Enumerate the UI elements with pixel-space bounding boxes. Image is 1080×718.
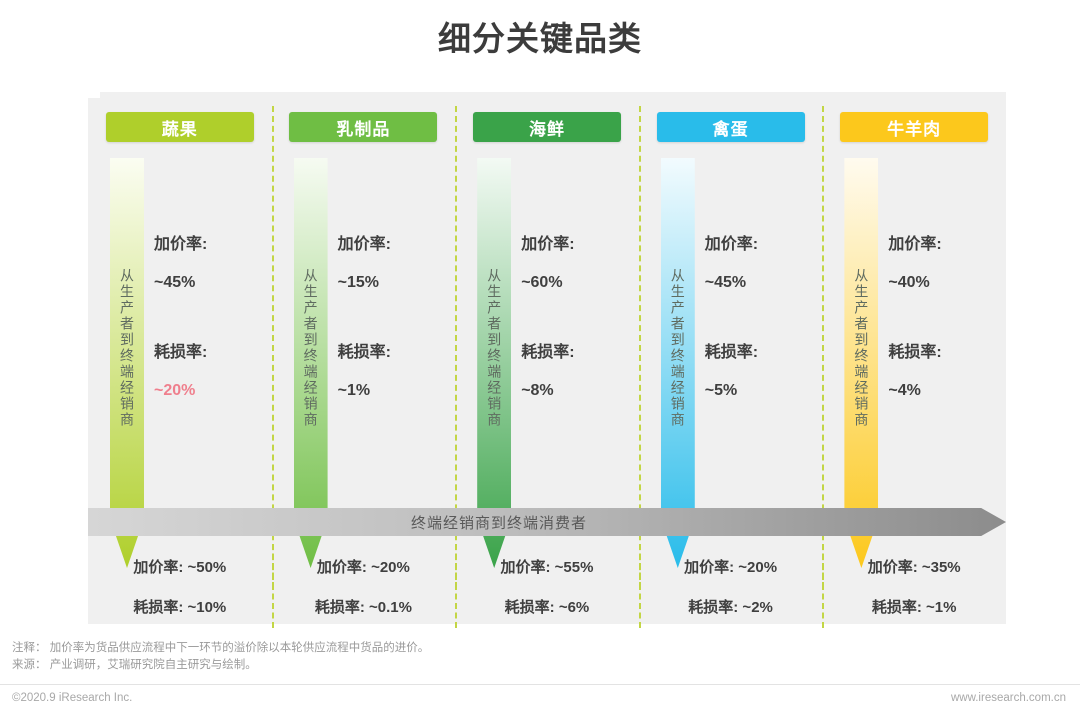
- downstream-markup-cell: 加价率: ~20%: [639, 548, 823, 584]
- footer-website: www.iresearch.com.cn: [951, 692, 1066, 704]
- upstream-flow-arrow: 从生产者到终端经销商: [110, 158, 144, 568]
- downstream-markup-row: 加价率: ~50%加价率: ~20%加价率: ~55%加价率: ~20%加价率:…: [88, 548, 1006, 584]
- upstream-flow-label: 从生产者到终端经销商: [477, 158, 511, 538]
- category-column: 禽蛋从生产者到终端经销商加价率:~45%耗损率:~5%: [639, 98, 823, 624]
- loss-label: 耗损率:: [154, 338, 264, 362]
- upstream-flow-label: 从生产者到终端经销商: [110, 158, 144, 538]
- loss-value: ~20%: [154, 382, 264, 400]
- loss-label: 耗损率:: [338, 338, 448, 362]
- category-chip-0[interactable]: 蔬果: [106, 112, 254, 142]
- downstream-loss-cell: 耗损率: ~1%: [822, 588, 1006, 624]
- category-chip-2[interactable]: 海鲜: [473, 112, 621, 142]
- downstream-markup-cell: 加价率: ~50%: [88, 548, 272, 584]
- upstream-flow-arrow: 从生产者到终端经销商: [294, 158, 328, 568]
- footnote-source: 来源： 产业调研，艾瑞研究院自主研究与绘制。: [12, 657, 872, 674]
- category-chip-1[interactable]: 乳制品: [289, 112, 437, 142]
- markup-label: 加价率:: [338, 230, 448, 254]
- upstream-stats: 加价率:~40%耗损率:~4%: [888, 230, 998, 446]
- markup-value: ~60%: [521, 274, 631, 292]
- upstream-flow-label: 从生产者到终端经销商: [661, 158, 695, 538]
- category-column: 乳制品从生产者到终端经销商加价率:~15%耗损率:~1%: [272, 98, 456, 624]
- category-column: 蔬果从生产者到终端经销商加价率:~45%耗损率:~20%: [88, 98, 272, 624]
- category-column: 海鲜从生产者到终端经销商加价率:~60%耗损率:~8%: [455, 98, 639, 624]
- upstream-stats: 加价率:~60%耗损率:~8%: [521, 230, 631, 446]
- downstream-markup-cell: 加价率: ~20%: [272, 548, 456, 584]
- loss-value: ~5%: [705, 382, 815, 400]
- downstream-loss-cell: 耗损率: ~10%: [88, 588, 272, 624]
- markup-label: 加价率:: [521, 230, 631, 254]
- downstream-flow-arrow: 终端经销商到终端消费者: [88, 508, 1006, 536]
- footer-copyright: ©2020.9 iResearch Inc.: [12, 692, 132, 704]
- upstream-flow-label: 从生产者到终端经销商: [294, 158, 328, 538]
- footnotes: 注释： 加价率为货品供应流程中下一环节的溢价除以本轮供应流程中货品的进价。 来源…: [12, 640, 872, 674]
- markup-value: ~40%: [888, 274, 998, 292]
- footer-divider: [0, 684, 1080, 685]
- loss-label: 耗损率:: [705, 338, 815, 362]
- downstream-flow-label: 终端经销商到终端消费者: [411, 512, 587, 533]
- downstream-loss-cell: 耗损率: ~6%: [455, 588, 639, 624]
- upstream-flow-arrow: 从生产者到终端经销商: [477, 158, 511, 568]
- downstream-loss-cell: 耗损率: ~2%: [639, 588, 823, 624]
- category-columns: 蔬果从生产者到终端经销商加价率:~45%耗损率:~20%乳制品从生产者到终端经销…: [88, 98, 1006, 624]
- category-name: 牛羊肉: [887, 115, 941, 140]
- upstream-flow-label: 从生产者到终端经销商: [844, 158, 878, 538]
- loss-value: ~8%: [521, 382, 631, 400]
- markup-value: ~45%: [154, 274, 264, 292]
- page-title: 细分关键品类: [0, 12, 1080, 60]
- upstream-flow-arrow: 从生产者到终端经销商: [661, 158, 695, 568]
- loss-label: 耗损率:: [888, 338, 998, 362]
- upstream-flow-arrow: 从生产者到终端经销商: [844, 158, 878, 568]
- category-chip-3[interactable]: 禽蛋: [657, 112, 805, 142]
- markup-value: ~15%: [338, 274, 448, 292]
- upstream-stats: 加价率:~45%耗损率:~5%: [705, 230, 815, 446]
- markup-label: 加价率:: [154, 230, 264, 254]
- loss-value: ~4%: [888, 382, 998, 400]
- downstream-loss-cell: 耗损率: ~0.1%: [272, 588, 456, 624]
- loss-value: ~1%: [338, 382, 448, 400]
- upstream-stats: 加价率:~15%耗损率:~1%: [338, 230, 448, 446]
- category-name: 乳制品: [336, 115, 390, 140]
- category-column: 牛羊肉从生产者到终端经销商加价率:~40%耗损率:~4%: [822, 98, 1006, 624]
- category-name: 蔬果: [162, 115, 198, 140]
- category-name: 禽蛋: [713, 115, 749, 140]
- downstream-markup-cell: 加价率: ~35%: [822, 548, 1006, 584]
- upstream-stats: 加价率:~45%耗损率:~20%: [154, 230, 264, 446]
- downstream-markup-cell: 加价率: ~55%: [455, 548, 639, 584]
- downstream-loss-row: 耗损率: ~10%耗损率: ~0.1%耗损率: ~6%耗损率: ~2%耗损率: …: [88, 588, 1006, 624]
- markup-label: 加价率:: [888, 230, 998, 254]
- markup-label: 加价率:: [705, 230, 815, 254]
- loss-label: 耗损率:: [521, 338, 631, 362]
- footnote-definition: 注释： 加价率为货品供应流程中下一环节的溢价除以本轮供应流程中货品的进价。: [12, 640, 872, 657]
- markup-value: ~45%: [705, 274, 815, 292]
- category-name: 海鲜: [529, 115, 565, 140]
- category-chip-4[interactable]: 牛羊肉: [840, 112, 988, 142]
